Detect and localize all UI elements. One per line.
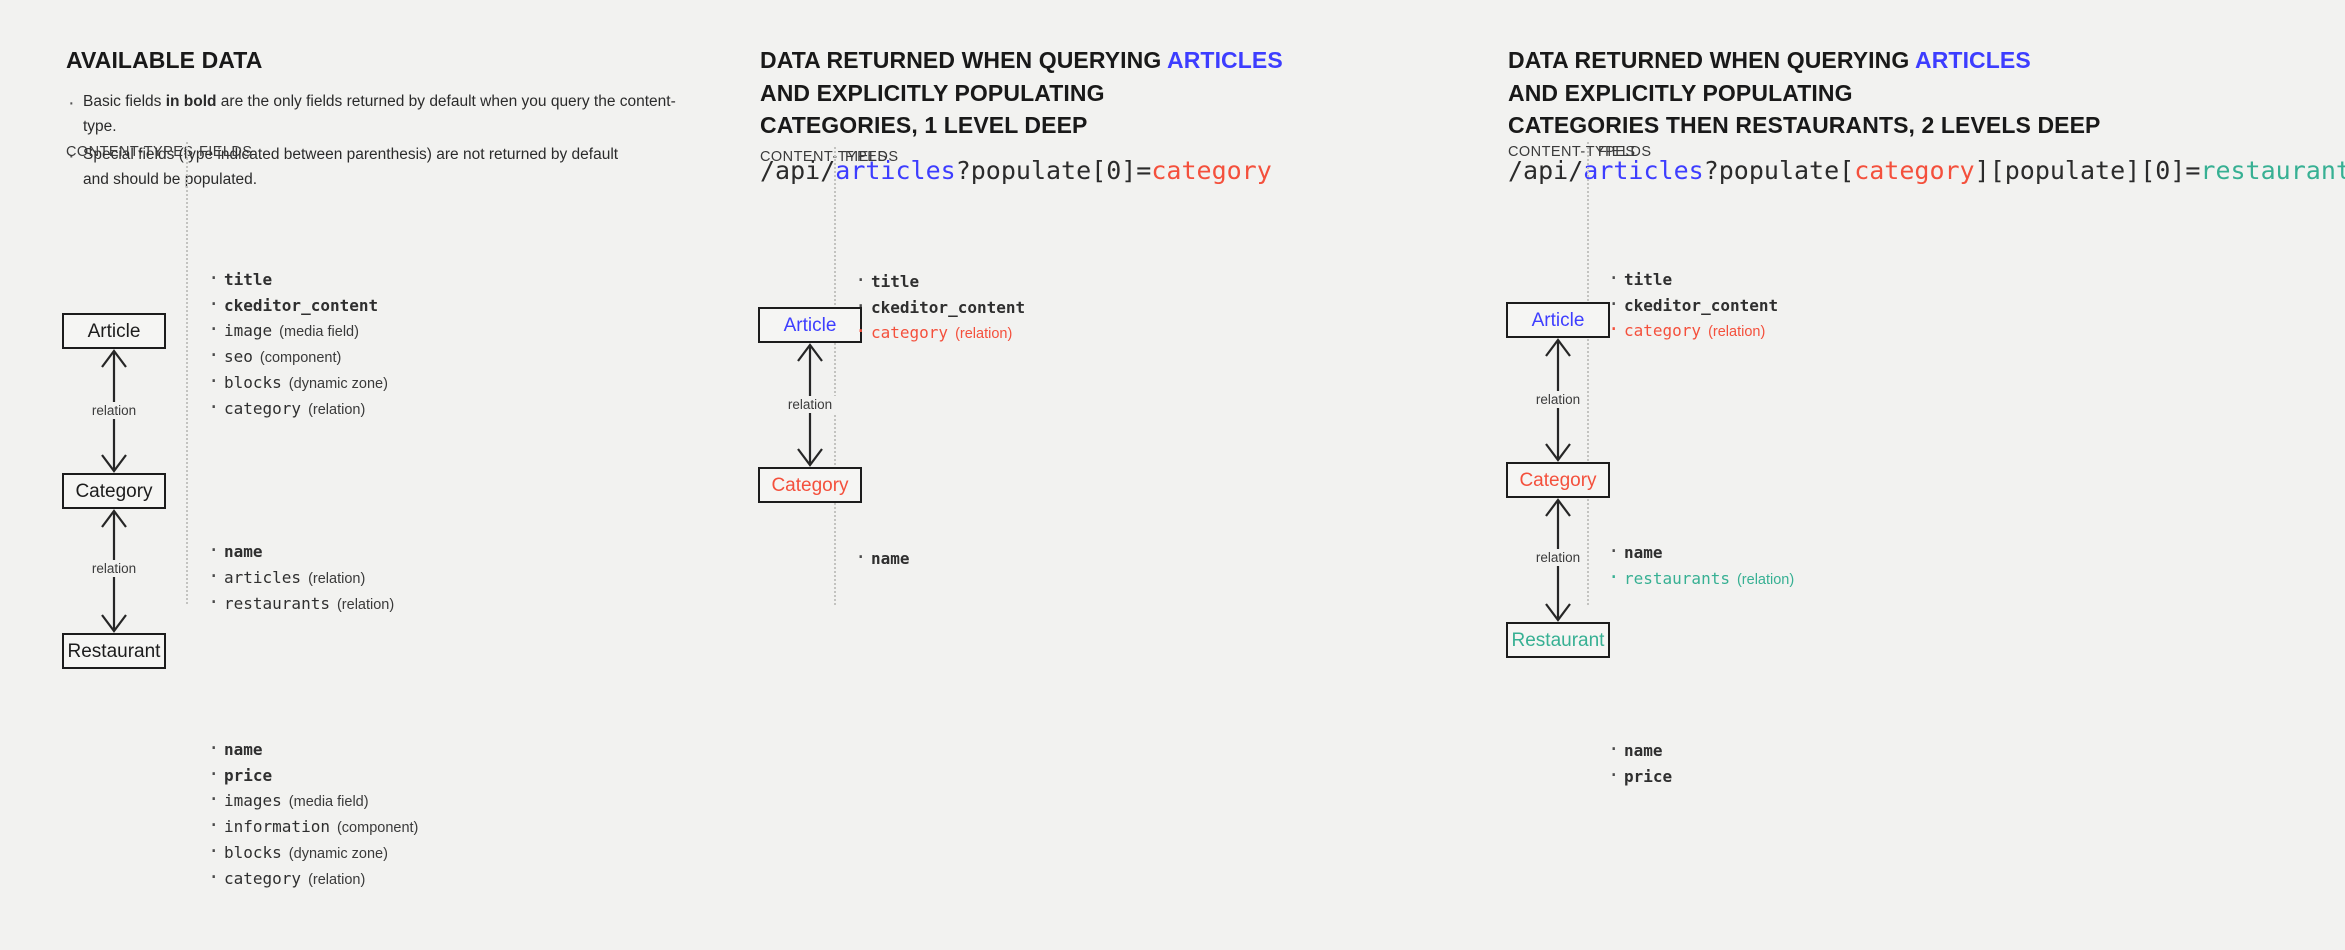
field-name: restaurants <box>1624 569 1730 588</box>
field-name: seo <box>224 347 253 366</box>
content-type-box-article[interactable]: Article <box>62 313 166 349</box>
field-item: ckeditor_content <box>852 300 1025 316</box>
field-name: name <box>871 549 910 568</box>
field-type: (component) <box>330 820 418 836</box>
note-bold: in bold <box>166 93 217 110</box>
box-label: Restaurant <box>68 642 161 661</box>
field-type: (dynamic zone) <box>282 376 388 392</box>
relation-label: relation <box>783 396 837 413</box>
caption-fields: FIELDS <box>845 149 898 165</box>
field-item: images(media field) <box>205 793 418 810</box>
field-item: name <box>852 551 910 567</box>
field-name: blocks <box>224 373 282 392</box>
field-item: category(relation) <box>1605 323 1778 340</box>
field-name: articles <box>224 568 301 587</box>
field-name: restaurants <box>224 594 330 613</box>
field-name: image <box>224 321 272 340</box>
content-type-box-category[interactable]: Category <box>758 467 862 503</box>
field-name: name <box>1624 543 1663 562</box>
box-label: Category <box>1519 471 1596 490</box>
field-item: ckeditor_content <box>1605 298 1778 314</box>
heading-line-2: AND EXPLICITLY POPULATING <box>1508 80 1853 106</box>
panel-1-notes: Basic fields in bold are the only fields… <box>66 89 700 192</box>
field-item: name <box>1605 545 1794 561</box>
field-type: (relation) <box>948 326 1012 342</box>
field-item: name <box>205 544 394 560</box>
box-label: Category <box>75 482 152 501</box>
column-divider <box>834 147 837 605</box>
panel-3-heading: DATA RETURNED WHEN QUERYING ARTICLES AND… <box>1508 44 2345 142</box>
content-type-box-restaurant[interactable]: Restaurant <box>1506 622 1610 658</box>
field-name: category <box>224 869 301 888</box>
field-name: name <box>224 740 263 759</box>
column-divider <box>1587 142 1590 605</box>
field-item: name <box>205 742 418 758</box>
panel-1-heading: AVAILABLE DATA <box>66 44 700 77</box>
box-label: Article <box>1532 311 1585 330</box>
panel-2-heading: DATA RETURNED WHEN QUERYING ARTICLES AND… <box>760 44 1470 142</box>
field-list-article: title ckeditor_content category(relation… <box>1605 272 1778 349</box>
field-item: information(component) <box>205 819 418 836</box>
field-list-category: name articles(relation) restaurants(rela… <box>205 544 394 622</box>
field-name: title <box>1624 270 1672 289</box>
field-type: (media field) <box>282 794 369 810</box>
heading-line-2: AND EXPLICITLY POPULATING <box>760 80 1105 106</box>
box-label: Article <box>784 316 837 335</box>
field-item: restaurants(relation) <box>1605 571 1794 588</box>
field-item: price <box>205 768 418 784</box>
field-name: category <box>1624 321 1701 340</box>
field-name: category <box>871 323 948 342</box>
api-part-prefix: /api/ <box>1508 156 1583 185</box>
field-list-category: name restaurants(relation) <box>1605 545 1794 597</box>
field-list-restaurant: name price <box>1605 743 1672 794</box>
field-item: restaurants(relation) <box>205 596 394 613</box>
field-type: (dynamic zone) <box>282 846 388 862</box>
field-item: name <box>1605 743 1672 759</box>
caption-fields: FIELDS <box>199 144 252 160</box>
field-type: (relation) <box>301 571 365 587</box>
field-type: (relation) <box>1730 572 1794 588</box>
relation-label: relation <box>1531 391 1585 408</box>
caption-content-types: CONTENT-TYPES <box>66 144 194 160</box>
field-item: category(relation) <box>205 401 388 418</box>
field-list-article: title ckeditor_content category(relation… <box>852 274 1025 351</box>
box-label: Restaurant <box>1512 631 1605 650</box>
note-item: Basic fields in bold are the only fields… <box>66 89 683 139</box>
box-label: Category <box>771 476 848 495</box>
heading-accent-articles: ARTICLES <box>1167 47 1283 73</box>
field-list-restaurant: name price images(media field) informati… <box>205 742 418 897</box>
field-type: (media field) <box>272 324 359 340</box>
panel-query-1-level: DATA RETURNED WHEN QUERYING ARTICLES AND… <box>700 0 1470 950</box>
box-label: Article <box>88 322 141 341</box>
api-part-collection: articles <box>1583 156 1703 185</box>
content-type-box-article[interactable]: Article <box>758 307 862 343</box>
column-divider <box>186 142 189 604</box>
api-part-populate-value: restaurants <box>2200 156 2345 185</box>
field-name: blocks <box>224 843 282 862</box>
field-name: images <box>224 791 282 810</box>
field-item: image(media field) <box>205 323 388 340</box>
heading-line-3: CATEGORIES, 1 LEVEL DEEP <box>760 112 1087 138</box>
content-type-box-category[interactable]: Category <box>1506 462 1610 498</box>
caption-fields: FIELDS <box>1598 144 1651 160</box>
relation-label: relation <box>1531 549 1585 566</box>
field-name: ckeditor_content <box>224 296 378 315</box>
field-name: title <box>224 270 272 289</box>
field-item: category(relation) <box>852 325 1025 342</box>
api-part-query: ?populate[ <box>1704 156 1855 185</box>
api-part-populate-value: category <box>1151 156 1271 185</box>
heading-accent-articles: ARTICLES <box>1915 47 2031 73</box>
relation-label: relation <box>87 402 141 419</box>
field-item: articles(relation) <box>205 570 394 587</box>
field-item: price <box>1605 769 1672 785</box>
field-name: price <box>224 766 272 785</box>
field-item: blocks(dynamic zone) <box>205 375 388 392</box>
relation-label: relation <box>87 560 141 577</box>
field-type: (relation) <box>301 872 365 888</box>
field-item: title <box>205 272 388 288</box>
field-name: information <box>224 817 330 836</box>
field-item: title <box>852 274 1025 290</box>
field-name: title <box>871 272 919 291</box>
api-part-query: ?populate[0]= <box>956 156 1152 185</box>
field-name: ckeditor_content <box>871 298 1025 317</box>
content-type-box-article[interactable]: Article <box>1506 302 1610 338</box>
panel-available-data: AVAILABLE DATA Basic fields in bold are … <box>0 0 700 950</box>
content-type-box-category[interactable]: Category <box>62 473 166 509</box>
field-item: category(relation) <box>205 871 418 888</box>
heading-line-3: CATEGORIES THEN RESTAURANTS, 2 LEVELS DE… <box>1508 112 2100 138</box>
field-type: (relation) <box>301 402 365 418</box>
field-type: (relation) <box>1701 324 1765 340</box>
api-part-nested-populate: ][populate][0]= <box>1975 156 2201 185</box>
field-item: blocks(dynamic zone) <box>205 845 418 862</box>
field-list-category: name <box>852 551 910 577</box>
panel-query-2-levels: DATA RETURNED WHEN QUERYING ARTICLES AND… <box>1470 0 2345 950</box>
api-part-populate-key: category <box>1854 156 1974 185</box>
field-item: title <box>1605 272 1778 288</box>
field-type: (relation) <box>330 597 394 613</box>
field-name: name <box>224 542 263 561</box>
field-name: price <box>1624 767 1672 786</box>
field-item: ckeditor_content <box>205 298 388 314</box>
field-name: name <box>1624 741 1663 760</box>
infographic-root: AVAILABLE DATA Basic fields in bold are … <box>0 0 2345 950</box>
heading-line-1: DATA RETURNED WHEN QUERYING <box>1508 47 1915 73</box>
content-type-box-restaurant[interactable]: Restaurant <box>62 633 166 669</box>
field-name: category <box>224 399 301 418</box>
field-list-article: title ckeditor_content image(media field… <box>205 272 388 427</box>
heading-line-1: DATA RETURNED WHEN QUERYING <box>760 47 1167 73</box>
field-name: ckeditor_content <box>1624 296 1778 315</box>
field-item: seo(component) <box>205 349 388 366</box>
field-type: (component) <box>253 350 341 366</box>
